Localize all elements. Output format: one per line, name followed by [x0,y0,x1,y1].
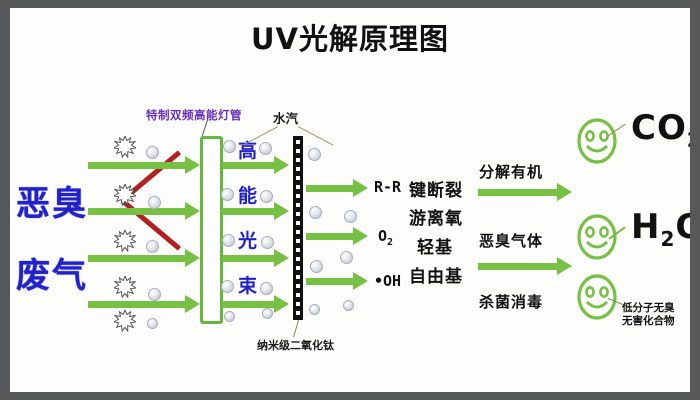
beam-arrow-1 [222,162,275,169]
harmless-note-line2: 无害化合物 [622,315,675,328]
formula-o2-base: O [378,227,387,245]
particle-icon [344,210,357,223]
product-co2-base: CO [631,108,687,148]
product-arrow-1 [306,185,354,192]
uv-lamp-tube-icon [200,136,223,324]
tio2-plate-icon [293,136,303,320]
beam-char-4: 束 [238,271,257,298]
effect-bond-break: 键断裂 [409,176,463,201]
beam-char-2: 能 [238,181,257,208]
inlet-arrow-1 [88,162,186,169]
particle-icon [221,188,234,201]
inlet-arrow-2 [88,208,186,215]
particle-icon [261,236,274,249]
particle-icon [310,260,323,273]
harmless-note-line1: 低分子无臭 [622,302,675,315]
starburst-icon [114,276,136,298]
product-h2o-h: H [631,207,660,247]
particle-icon [146,146,159,159]
starburst-icon [114,310,136,332]
formula-rr: R-R [374,178,401,196]
particle-icon [223,140,236,153]
product-h2o-sub: 2 [660,227,675,251]
beam-arrow-2 [222,208,275,215]
product-arrow-2 [306,233,354,240]
effect-free-radical: 自由基 [409,262,463,287]
harmless-compound-note: 低分子无臭 无害化合物 [622,302,675,328]
product-h2o: H2O [631,207,690,251]
odor-gas-label-line2: 废气 [16,248,88,297]
product-h2o-o: O [675,207,690,247]
product-arrow-3 [306,278,354,285]
starburst-icon [114,230,136,252]
particle-icon [259,142,272,155]
outcome-arrow-2 [478,263,558,270]
particle-icon [147,318,158,329]
odor-gas-label-line1: 恶臭 [16,176,88,225]
particle-icon [148,196,161,209]
image-frame: UV光解原理图 恶臭 废气 [0,0,700,400]
particle-icon [260,282,273,295]
formula-o2: O2 [378,227,393,248]
beam-arrow-4 [222,301,275,308]
particle-icon [260,190,273,203]
inlet-arrow-4 [88,301,186,308]
particle-icon [308,148,321,161]
particle-icon [146,240,159,253]
effect-free-oxygen: 游离氧 [409,204,463,229]
particle-icon [224,311,235,322]
outcome-label-odor-gas: 恶臭气体 [479,230,543,251]
tio2-label: 纳米级二氧化钛 [257,337,334,353]
particle-icon [222,234,235,247]
product-co2: CO2 [631,108,690,152]
inlet-arrow-3 [88,255,186,262]
smiley-face-icon [576,118,618,164]
beam-char-1: 高 [238,136,257,163]
particle-icon [340,251,353,264]
particle-icon [309,206,322,219]
beam-char-3: 光 [238,226,257,253]
uv-lamp-label: 特制双频高能灯管 [146,107,242,123]
particle-icon [309,304,320,315]
formula-o2-sub: 2 [387,237,393,248]
beam-arrow-3 [222,255,275,262]
water-vapor-label: 水汽 [273,108,298,127]
diagram-canvas: UV光解原理图 恶臭 废气 [10,8,690,392]
outcome-label-sterilize: 杀菌消毒 [479,291,543,312]
effect-hydroxyl: 轻基 [417,233,453,258]
particle-icon [343,300,354,311]
starburst-icon [114,136,136,158]
starburst-icon [114,184,136,206]
tio2-leader-line [293,320,299,338]
formula-oh: •OH [374,272,401,290]
product-co2-sub: 2 [687,128,690,152]
vapor-leader-right [298,126,334,146]
particle-icon [262,308,273,319]
outcome-label-decompose: 分解有机 [479,161,543,182]
particle-icon [221,280,234,293]
particle-icon [148,288,161,301]
outcome-arrow-1 [478,189,558,196]
page-title: UV光解原理图 [10,16,690,58]
smiley-face-icon [576,274,618,320]
